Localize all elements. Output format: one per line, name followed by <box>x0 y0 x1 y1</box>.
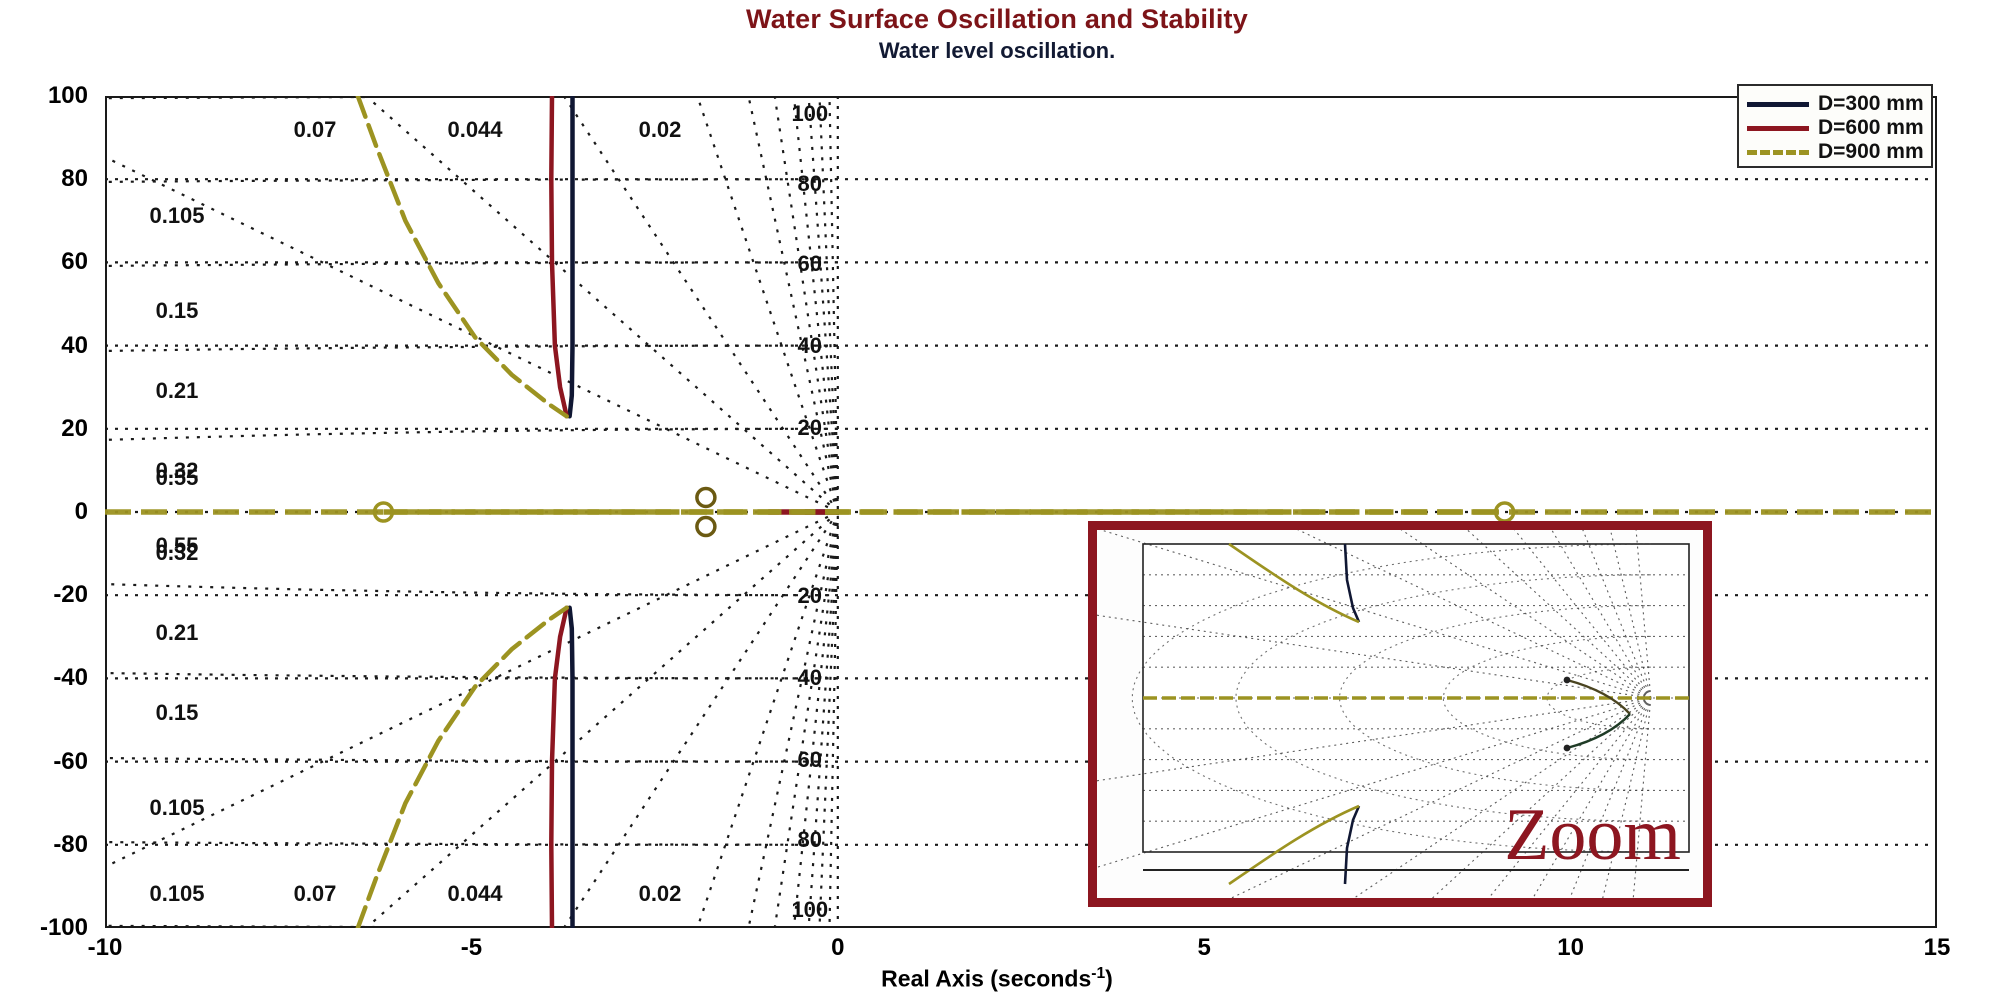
damping-ray-down-1 <box>662 512 838 928</box>
y-tick-label-5: 0 <box>75 498 96 526</box>
freq-label-upper-1: 80 <box>798 171 822 197</box>
damping-ray-up-8 <box>105 96 838 512</box>
x-axis-title: Real Axis (seconds-1) <box>0 965 1994 993</box>
inset-pole-marker-1 <box>1564 677 1571 684</box>
page-title: Water Surface Oscillation and Stability <box>0 4 1994 35</box>
y-tick-label-0: 100 <box>48 82 96 110</box>
legend-swatch-1 <box>1747 126 1809 131</box>
damping-label-bottom-1: 0.07 <box>294 881 337 907</box>
damping-label-bottom-3: 0.02 <box>639 881 682 907</box>
y-tick-label-4: 20 <box>61 415 96 443</box>
y-tick-label-1: 80 <box>61 165 96 193</box>
damping-ray-down-5 <box>105 512 838 928</box>
x-axis-tick-labels: -10-5051015 <box>105 934 1937 968</box>
freq-label-lower-1: 40 <box>798 665 822 691</box>
freq-label-upper-4: 20 <box>798 415 822 441</box>
freq-label-lower-4: 100 <box>791 897 828 923</box>
damping-label-top-1: 0.044 <box>447 117 502 143</box>
freq-label-upper-0: 100 <box>791 101 828 127</box>
legend[interactable]: D=300 mmD=600 mmD=900 mm <box>1737 84 1933 168</box>
damping-ray-down-0 <box>758 512 838 928</box>
damping-ray-down-8 <box>105 512 838 928</box>
damping-label-top-2: 0.02 <box>639 117 682 143</box>
damping-label-upper-left-0: 0.105 <box>149 203 204 229</box>
damping-ray-up-7 <box>105 96 838 512</box>
page-subtitle: Water level oscillation. <box>0 38 1994 64</box>
x-tick-label-1: -5 <box>461 934 482 962</box>
legend-label-0: D=300 mm <box>1818 92 1924 116</box>
x-tick-label-0: -10 <box>88 934 123 962</box>
pole-marker-3 <box>697 518 715 536</box>
damping-ray-down-3 <box>418 512 838 928</box>
freq-label-upper-2: 60 <box>798 251 822 277</box>
damping-ray-up-6 <box>105 96 838 512</box>
y-tick-label-2: 60 <box>61 248 96 276</box>
damping-label-lower-left-1: 0.32 <box>156 540 199 566</box>
damping-ray-up-4 <box>238 96 838 512</box>
locus-1-lower <box>551 608 566 928</box>
x-tick-label-3: 5 <box>1198 934 1211 962</box>
damping-label-lower-left-4: 0.105 <box>149 795 204 821</box>
inset-pole-marker-2 <box>1564 745 1571 752</box>
y-tick-label-9: -80 <box>53 831 96 859</box>
damping-ray-down-9 <box>105 512 838 928</box>
locus-1-upper <box>551 96 566 416</box>
freq-label-lower-3: 80 <box>798 827 822 853</box>
zoom-inset-label: Zoom <box>1504 798 1681 872</box>
damping-ray-down-2 <box>558 512 838 928</box>
x-tick-label-4: 10 <box>1557 934 1584 962</box>
y-tick-label-7: -40 <box>53 664 96 692</box>
damping-label-top-0: 0.07 <box>294 117 337 143</box>
y-axis-tick-labels: 100806040200-20-40-60-80-100 <box>0 96 96 928</box>
damping-ray-up-1 <box>662 96 838 512</box>
zoom-inset-panel[interactable]: Zoom <box>1088 521 1712 907</box>
y-tick-label-8: -60 <box>53 748 96 776</box>
damping-label-upper-left-2: 0.21 <box>156 378 199 404</box>
damping-ray-up-3 <box>418 96 838 512</box>
damping-ray-down-6 <box>105 512 838 928</box>
damping-label-bottom-0: 0.105 <box>149 881 204 907</box>
damping-ray-up-9 <box>105 96 838 512</box>
damping-ray-down-7 <box>105 512 838 928</box>
legend-item-2[interactable]: D=900 mm <box>1747 140 1923 164</box>
x-tick-label-2: 0 <box>831 934 844 962</box>
damping-ray-up-5 <box>105 96 838 512</box>
x-tick-label-5: 15 <box>1924 934 1951 962</box>
damping-label-lower-left-2: 0.21 <box>156 620 199 646</box>
legend-label-2: D=900 mm <box>1818 140 1924 164</box>
locus-2-lower <box>358 608 567 928</box>
y-tick-label-3: 40 <box>61 332 96 360</box>
legend-swatch-0 <box>1747 102 1809 107</box>
legend-swatch-2 <box>1747 150 1809 155</box>
damping-ray-up-2 <box>558 96 838 512</box>
legend-item-0[interactable]: D=300 mm <box>1747 92 1923 116</box>
damping-label-lower-left-3: 0.15 <box>156 700 199 726</box>
damping-label-bottom-2: 0.044 <box>447 881 502 907</box>
freq-label-lower-2: 60 <box>798 747 822 773</box>
y-tick-label-6: -20 <box>53 581 96 609</box>
damping-label-lower-left-0: 0.55 <box>156 465 199 491</box>
damping-ray-up-0 <box>758 96 838 512</box>
legend-label-1: D=600 mm <box>1818 116 1924 140</box>
pole-marker-2 <box>697 488 715 506</box>
legend-item-1[interactable]: D=600 mm <box>1747 116 1923 140</box>
locus-0-lower <box>570 608 573 928</box>
freq-label-upper-3: 40 <box>798 333 822 359</box>
damping-ray-down-4 <box>238 512 838 928</box>
damping-label-upper-left-1: 0.15 <box>156 298 199 324</box>
freq-label-lower-0: 20 <box>798 583 822 609</box>
locus-0-upper <box>570 96 573 416</box>
locus-2-upper <box>358 96 567 416</box>
